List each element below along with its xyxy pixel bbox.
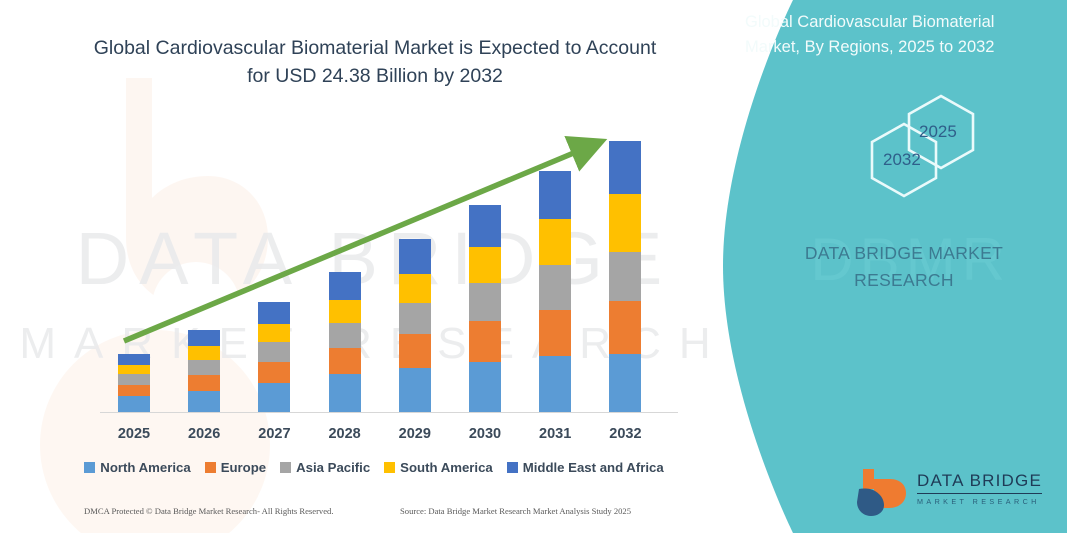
hexagon-group: 2025 2032 — [847, 92, 1027, 210]
x-axis-labels: 20252026202720282029203020312032 — [0, 426, 748, 446]
brand-name: DATA BRIDGE MARKET RESEARCH — [769, 240, 1039, 294]
infographic-root: DATA BRIDGE MARKET RESEARCH Global Cardi… — [0, 0, 1067, 533]
bar-segment-2031-asia-pacific — [539, 265, 571, 309]
bar-segment-2028-asia-pacific — [329, 323, 361, 347]
bar-segment-2029-europe — [399, 334, 431, 367]
bar-segment-2031-middle-east-and-africa — [539, 171, 571, 219]
bar-segment-2030-north-america — [469, 362, 501, 412]
bar-segment-2030-asia-pacific — [469, 283, 501, 321]
bar-segment-2026-europe — [188, 375, 220, 391]
bar-2032 — [609, 141, 641, 412]
legend-item-south-america[interactable]: South America — [384, 460, 493, 475]
brand-line-1: DATA BRIDGE MARKET — [769, 240, 1039, 267]
logo-mark-icon — [857, 467, 915, 517]
legend-swatch-icon — [507, 462, 518, 473]
bar-segment-2028-middle-east-and-africa — [329, 272, 361, 300]
brand-line-2: RESEARCH — [769, 267, 1039, 294]
legend-swatch-icon — [280, 462, 291, 473]
bar-segment-2026-south-america — [188, 346, 220, 359]
logo-wordmark: DATA BRIDGE MARKET RESEARCH — [917, 471, 1042, 506]
bar-segment-2029-north-america — [399, 368, 431, 412]
x-axis-label-2031: 2031 — [525, 426, 585, 442]
legend-swatch-icon — [205, 462, 216, 473]
legend-item-middle-east-and-africa[interactable]: Middle East and Africa — [507, 460, 664, 475]
legend-label: South America — [400, 460, 493, 475]
x-axis-label-2026: 2026 — [174, 426, 234, 442]
x-axis-label-2030: 2030 — [455, 426, 515, 442]
bar-segment-2026-middle-east-and-africa — [188, 330, 220, 347]
bar-segment-2025-asia-pacific — [118, 374, 150, 385]
bar-segment-2031-south-america — [539, 219, 571, 266]
legend-item-north-america[interactable]: North America — [84, 460, 190, 475]
bar-segment-2029-south-america — [399, 274, 431, 303]
bar-segment-2027-north-america — [258, 383, 290, 412]
bar-2026 — [188, 330, 220, 412]
logo-main-text: DATA BRIDGE — [917, 471, 1042, 494]
bar-segment-2028-north-america — [329, 374, 361, 412]
legend-label: North America — [100, 460, 190, 475]
bar-2025 — [118, 354, 150, 412]
bar-segment-2029-asia-pacific — [399, 303, 431, 334]
hex-label-2032: 2032 — [883, 150, 921, 170]
legend-item-asia-pacific[interactable]: Asia Pacific — [280, 460, 370, 475]
logo-sub-text: MARKET RESEARCH — [917, 497, 1042, 506]
bar-group — [0, 0, 748, 533]
footer-copyright: DMCA Protected © Data Bridge Market Rese… — [84, 506, 334, 516]
bar-segment-2025-europe — [118, 385, 150, 396]
x-axis-label-2025: 2025 — [104, 426, 164, 442]
x-axis-label-2029: 2029 — [385, 426, 445, 442]
x-axis-label-2032: 2032 — [595, 426, 655, 442]
bar-segment-2032-europe — [609, 301, 641, 354]
bar-segment-2027-south-america — [258, 324, 290, 342]
bar-2031 — [539, 171, 571, 412]
bar-segment-2025-south-america — [118, 365, 150, 374]
legend-label: Middle East and Africa — [523, 460, 664, 475]
bar-2030 — [469, 205, 501, 412]
bar-segment-2025-north-america — [118, 396, 150, 412]
hexagon-shapes — [847, 92, 1027, 210]
x-axis-label-2028: 2028 — [315, 426, 375, 442]
bar-segment-2029-middle-east-and-africa — [399, 239, 431, 275]
legend-label: Europe — [221, 460, 266, 475]
bar-segment-2027-europe — [258, 362, 290, 383]
panel-title-line1: Global Cardiovascular Biomaterial — [745, 10, 1045, 35]
bar-segment-2028-europe — [329, 348, 361, 375]
bar-segment-2028-south-america — [329, 300, 361, 323]
bar-segment-2032-north-america — [609, 354, 641, 412]
bar-segment-2030-middle-east-and-africa — [469, 205, 501, 247]
panel-title: Global Cardiovascular Biomaterial Market… — [745, 10, 1045, 60]
footer-source: Source: Data Bridge Market Research Mark… — [400, 506, 631, 516]
bar-2028 — [329, 272, 361, 412]
hex-label-2025: 2025 — [919, 122, 957, 142]
legend-label: Asia Pacific — [296, 460, 370, 475]
bar-segment-2027-asia-pacific — [258, 342, 290, 362]
bar-segment-2025-middle-east-and-africa — [118, 354, 150, 365]
bar-2027 — [258, 302, 290, 412]
legend-item-europe[interactable]: Europe — [205, 460, 266, 475]
bar-segment-2026-north-america — [188, 391, 220, 412]
chart-legend: North AmericaEuropeAsia PacificSouth Ame… — [0, 460, 748, 475]
legend-swatch-icon — [84, 462, 95, 473]
bar-segment-2032-asia-pacific — [609, 252, 641, 301]
company-logo: DATA BRIDGE MARKET RESEARCH — [857, 467, 1047, 519]
bar-segment-2027-middle-east-and-africa — [258, 302, 290, 324]
legend-swatch-icon — [384, 462, 395, 473]
stacked-bar-chart: 20252026202720282029203020312032 North A… — [0, 0, 748, 533]
bar-segment-2030-south-america — [469, 247, 501, 283]
bar-segment-2032-middle-east-and-africa — [609, 141, 641, 194]
panel-title-line2: Market, By Regions, 2025 to 2032 — [745, 35, 1045, 60]
bar-segment-2026-asia-pacific — [188, 360, 220, 376]
bar-segment-2031-north-america — [539, 356, 571, 412]
x-axis-label-2027: 2027 — [244, 426, 304, 442]
bar-segment-2031-europe — [539, 310, 571, 357]
bar-2029 — [399, 239, 431, 412]
bar-segment-2032-south-america — [609, 194, 641, 252]
bar-segment-2030-europe — [469, 321, 501, 362]
footer: DMCA Protected © Data Bridge Market Rese… — [0, 506, 748, 526]
